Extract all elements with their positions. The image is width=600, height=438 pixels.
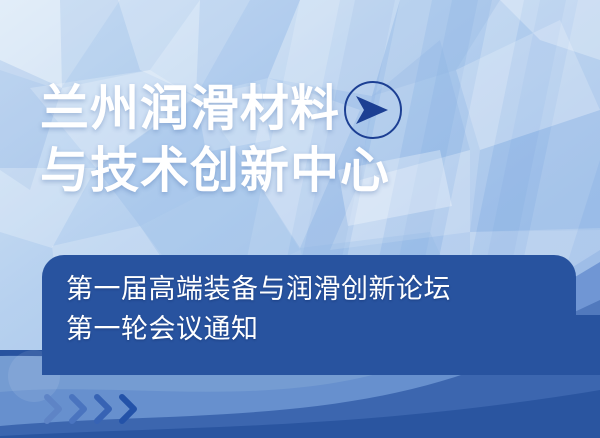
title-line-1: 兰州润滑材料 — [40, 80, 340, 138]
title-line-2-row: 与技术创新中心 — [40, 140, 540, 202]
play-arrow-icon — [344, 81, 402, 139]
chevron-right-icon-3 — [94, 394, 116, 424]
poster-title: 兰州润滑材料 与技术创新中心 — [40, 78, 540, 202]
chevron-right-icon-1 — [44, 394, 66, 424]
notice-line-1: 第一届高端装备与润滑创新论坛 — [66, 269, 451, 309]
title-line-2: 与技术创新中心 — [40, 142, 390, 200]
notice-card: 第一届高端装备与润滑创新论坛 第一轮会议通知 — [42, 255, 576, 360]
poster-banner: 兰州润滑材料 与技术创新中心 — [0, 0, 600, 438]
chevron-right-icon-4 — [119, 394, 141, 424]
chevron-group — [44, 394, 144, 424]
notice-line-2: 第一轮会议通知 — [66, 309, 451, 349]
title-line-1-row: 兰州润滑材料 — [40, 78, 540, 140]
notice-card-text: 第一届高端装备与润滑创新论坛 第一轮会议通知 — [66, 269, 451, 349]
chevron-right-icon-2 — [69, 394, 91, 424]
